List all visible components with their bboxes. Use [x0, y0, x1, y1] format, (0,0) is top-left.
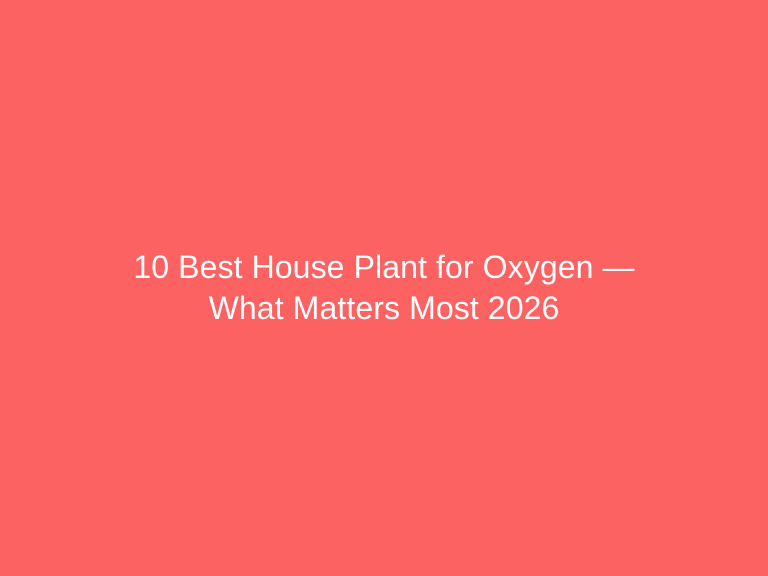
title-block: 10 Best House Plant for Oxygen — What Ma…	[84, 247, 684, 329]
featured-image-placeholder: 10 Best House Plant for Oxygen — What Ma…	[0, 0, 768, 576]
page-title: 10 Best House Plant for Oxygen — What Ma…	[92, 247, 676, 329]
